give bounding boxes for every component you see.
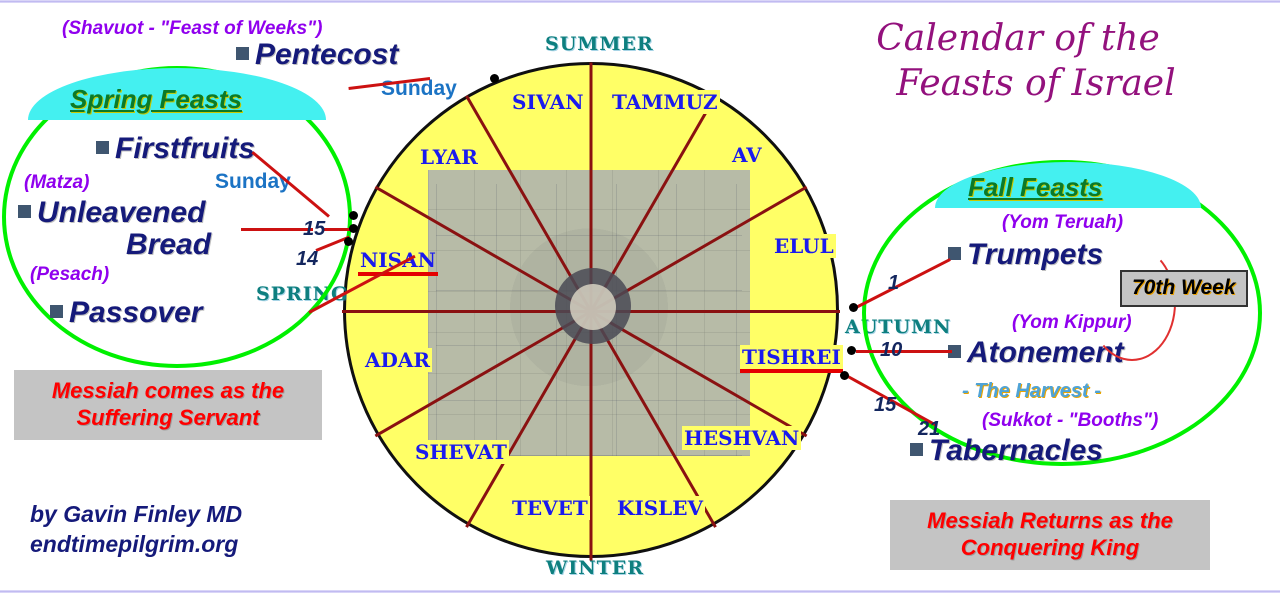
month-label-shevat: SHEVAT <box>413 440 509 464</box>
feast-firstfruits: Firstfruits <box>96 132 255 166</box>
leader-line-atonement <box>856 350 952 353</box>
byline-author: by Gavin Finley MD <box>30 500 242 530</box>
day-number-1-fall: 1 <box>888 272 899 295</box>
marker-dot-pentecost <box>490 74 499 83</box>
spring-message-banner: Messiah comes as the Suffering Servant <box>14 370 322 440</box>
feast-firstfruits-label: Firstfruits <box>115 132 255 165</box>
wheel-hub-inner <box>570 284 616 330</box>
feast-bullet-icon <box>236 47 249 60</box>
feast-trumpets-label: Trumpets <box>967 238 1103 271</box>
byline: by Gavin Finley MD endtimepilgrim.org <box>30 500 242 560</box>
marker-dot-10 <box>847 346 856 355</box>
seventieth-week-box: 70th Week <box>1120 270 1248 307</box>
feast-tabernacles-label: Tabernacles <box>929 434 1103 467</box>
wheel-spoke <box>342 310 591 313</box>
page-title-line1: Calendar of the <box>768 16 1268 61</box>
feast-passover-label: Passover <box>69 296 202 329</box>
marker-dot-15-fall <box>840 371 849 380</box>
month-label-tishrei: TISHREI <box>740 345 843 373</box>
spring-message-line2: Suffering Servant <box>24 405 312 432</box>
page-title: Calendar of the Feasts of Israel <box>768 16 1268 106</box>
matza-paren-label: (Matza) <box>24 172 89 194</box>
day-number-21-fall: 21 <box>918 418 940 441</box>
feast-unleavened-label-2: Bread <box>126 228 211 262</box>
wheel-spoke <box>590 312 593 561</box>
feast-unleavened-label: Unleavened <box>37 196 205 229</box>
page-title-line2: Feasts of Israel <box>768 61 1268 106</box>
fall-message-banner: Messiah Returns as the Conquering King <box>890 500 1210 570</box>
byline-site[interactable]: endtimepilgrim.org <box>30 530 242 560</box>
month-label-sivan: SIVAN <box>510 90 586 114</box>
fall-message-line1: Messiah Returns as the <box>900 508 1200 535</box>
feast-unleavened-bread: Unleavened <box>18 196 205 230</box>
month-label-lyar: LYAR <box>418 145 480 169</box>
month-label-heshvan: HESHVAN <box>682 426 801 450</box>
feast-passover: Passover <box>50 296 202 330</box>
feast-atonement: Atonement <box>948 336 1124 370</box>
yom-teruah-paren-label: (Yom Teruah) <box>1002 212 1123 234</box>
season-label-winter: WINTER <box>546 557 644 579</box>
feast-pentecost-label: Pentecost <box>255 38 398 71</box>
pesach-paren-label: (Pesach) <box>30 264 109 286</box>
feast-trumpets: Trumpets <box>948 238 1103 272</box>
day-number-14-spring: 14 <box>296 248 318 271</box>
month-label-tammuz: TAMMUZ <box>610 90 720 114</box>
harvest-label: - The Harvest - <box>962 380 1101 403</box>
marker-dot-firstfruits <box>349 211 358 220</box>
shavuot-paren-label: (Shavuot - "Feast of Weeks") <box>62 18 323 40</box>
month-label-elul: ELUL <box>772 234 836 258</box>
month-label-tevet: TEVET <box>510 496 590 520</box>
leader-line-15 <box>323 228 351 231</box>
month-label-kislev: KISLEV <box>615 496 705 520</box>
season-label-summer: SUMMER <box>545 33 654 55</box>
calendar-infographic: NISAN LYAR SIVAN TAMMUZ AV ELUL TISHREI … <box>0 0 1280 593</box>
feast-bullet-icon <box>96 141 109 154</box>
month-label-av: AV <box>730 143 764 167</box>
fall-message-line2: Conquering King <box>900 535 1200 562</box>
day-number-15-spring: 15 <box>303 218 325 241</box>
feast-bullet-icon <box>50 305 63 318</box>
marker-dot-15 <box>349 224 358 233</box>
feast-bullet-icon <box>910 443 923 456</box>
day-number-15-fall: 15 <box>874 394 896 417</box>
spring-feasts-heading: Spring Feasts <box>70 84 242 115</box>
marker-dot-1 <box>849 303 858 312</box>
marker-dot-14 <box>344 237 353 246</box>
fall-feasts-heading: Fall Feasts <box>968 172 1102 203</box>
spring-message-line1: Messiah comes as the <box>24 378 312 405</box>
month-label-adar: ADAR <box>363 348 432 372</box>
day-number-10-fall: 10 <box>880 339 902 362</box>
sukkot-paren-label: (Sukkot - "Booths") <box>982 410 1158 432</box>
top-border-rule <box>0 0 1280 3</box>
feast-bullet-icon <box>18 205 31 218</box>
feast-pentecost: Pentecost <box>236 38 398 72</box>
